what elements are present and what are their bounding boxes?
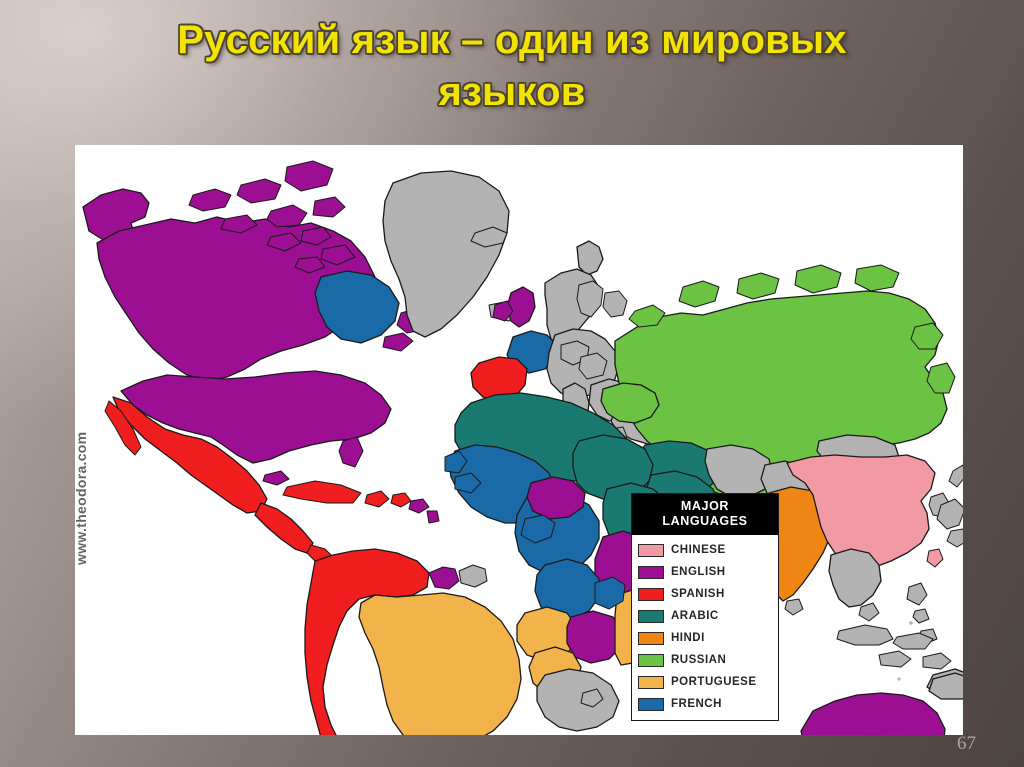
legend-label-french: FRENCH	[671, 698, 722, 710]
legend-label-russian: RUSSIAN	[671, 654, 726, 666]
legend-row: FRENCH	[638, 693, 778, 715]
legend-row: RUSSIAN	[638, 649, 778, 671]
legend-label-spanish: SPANISH	[671, 588, 725, 600]
legend-swatch-english	[638, 566, 664, 579]
legend-title-line2: LANGUAGES	[632, 514, 778, 529]
legend-row: SPANISH	[638, 583, 778, 605]
legend-row: ARABIC	[638, 605, 778, 627]
legend-items: CHINESEENGLISHSPANISHARABICHINDIRUSSIANP…	[632, 535, 778, 720]
presentation-slide: Русский язык – один из мировых языков .l…	[0, 0, 1024, 767]
legend-header: MAJOR LANGUAGES	[632, 494, 778, 535]
legend-label-hindi: HINDI	[671, 632, 705, 644]
map-svg: .ln { stroke:#1a1a1a; stroke-width:1.3; …	[75, 145, 963, 735]
legend-swatch-portuguese	[638, 676, 664, 689]
page-title: Русский язык – один из мировых языков	[62, 14, 962, 118]
legend-swatch-chinese	[638, 544, 664, 557]
legend-row: HINDI	[638, 627, 778, 649]
map-watermark: www.theodora.com	[75, 355, 89, 565]
legend-row: ENGLISH	[638, 561, 778, 583]
legend-row: PORTUGUESE	[638, 671, 778, 693]
world-language-map: .ln { stroke:#1a1a1a; stroke-width:1.3; …	[75, 145, 963, 735]
legend-swatch-arabic	[638, 610, 664, 623]
legend-title-line1: MAJOR	[632, 499, 778, 514]
legend-swatch-hindi	[638, 632, 664, 645]
legend-swatch-russian	[638, 654, 664, 667]
map-legend: MAJOR LANGUAGES CHINESEENGLISHSPANISHARA…	[631, 493, 779, 721]
legend-label-english: ENGLISH	[671, 566, 726, 578]
page-number: 67	[957, 733, 976, 755]
legend-swatch-french	[638, 698, 664, 711]
legend-label-portuguese: PORTUGUESE	[671, 676, 757, 688]
legend-label-chinese: CHINESE	[671, 544, 726, 556]
legend-label-arabic: ARABIC	[671, 610, 719, 622]
legend-row: CHINESE	[638, 539, 778, 561]
legend-swatch-spanish	[638, 588, 664, 601]
